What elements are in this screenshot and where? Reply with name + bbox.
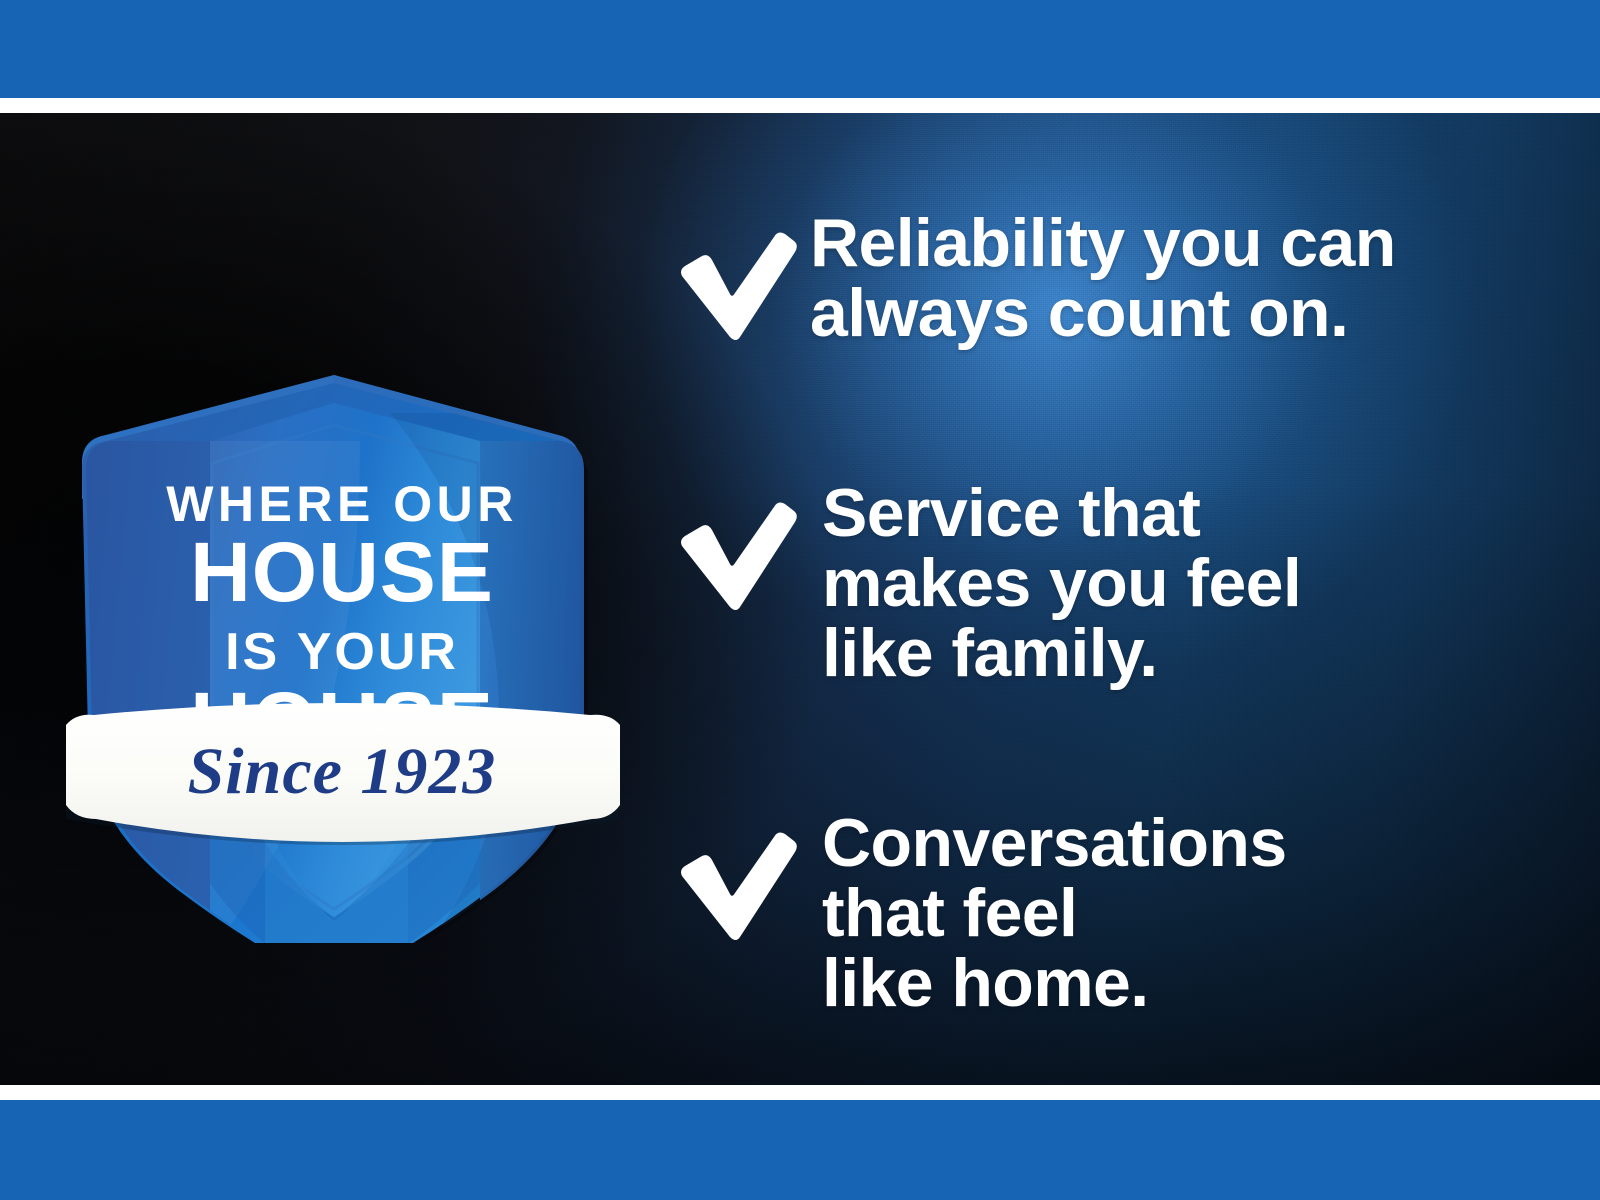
benefit-item-service: Service that makes you feel like family. (668, 478, 1568, 688)
benefit-item-conversations: Conversations that feel like home. (668, 808, 1568, 1018)
bottom-brand-band (0, 1100, 1600, 1200)
logo-line-3: IS YOUR (225, 623, 459, 681)
ribbon-text: Since 1923 (188, 735, 497, 808)
check-icon (668, 224, 800, 342)
logo-line-1: WHERE OUR (166, 476, 518, 532)
logo-line-2: HOUSE (190, 525, 494, 619)
main-stage: WHERE OUR HOUSE IS YOUR HOUSE Since 1923 (0, 113, 1600, 1088)
benefit-item-reliability: Reliability you can always count on. (668, 208, 1568, 348)
benefit-text-reliability: Reliability you can always count on. (810, 208, 1568, 348)
check-icon (668, 494, 800, 612)
top-white-rule (0, 98, 1600, 113)
bottom-white-rule (0, 1085, 1600, 1100)
benefit-text-conversations: Conversations that feel like home. (822, 808, 1568, 1018)
check-icon (668, 824, 800, 942)
shield-ribbon: Since 1923 (66, 703, 620, 845)
benefits-list: Reliability you can always count on. Ser… (668, 208, 1568, 1018)
benefit-text-service: Service that makes you feel like family. (822, 478, 1568, 688)
promo-graphic: WHERE OUR HOUSE IS YOUR HOUSE Since 1923 (0, 0, 1600, 1200)
top-brand-band (0, 0, 1600, 98)
brand-shield-logo: WHERE OUR HOUSE IS YOUR HOUSE Since 1923 (60, 263, 630, 943)
